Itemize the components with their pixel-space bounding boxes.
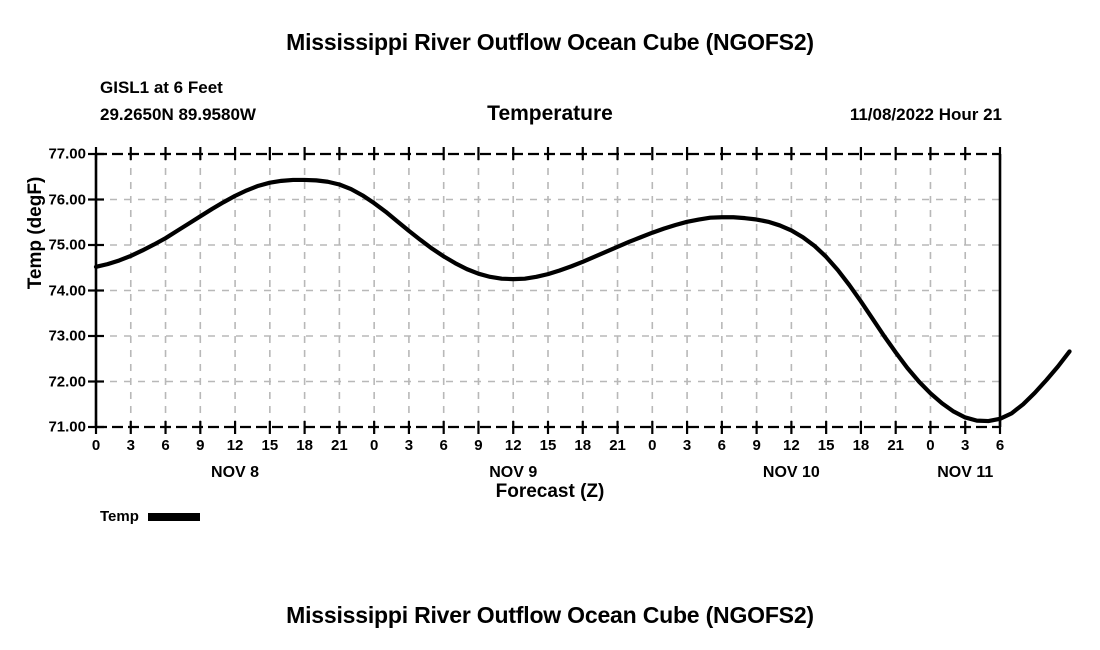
legend-label-temp: Temp	[100, 508, 139, 525]
chart-area: Temp (degF) Forecast (Z) 77.0076.0075.00…	[0, 0, 1100, 560]
chart-page: Mississippi River Outflow Ocean Cube (NG…	[0, 0, 1100, 650]
page-title-bottom: Mississippi River Outflow Ocean Cube (NG…	[0, 602, 1100, 629]
legend: Temp	[100, 508, 200, 525]
temperature-line-plot	[0, 0, 1100, 560]
legend-swatch-temp	[148, 513, 200, 521]
grid-lines	[96, 154, 1000, 427]
